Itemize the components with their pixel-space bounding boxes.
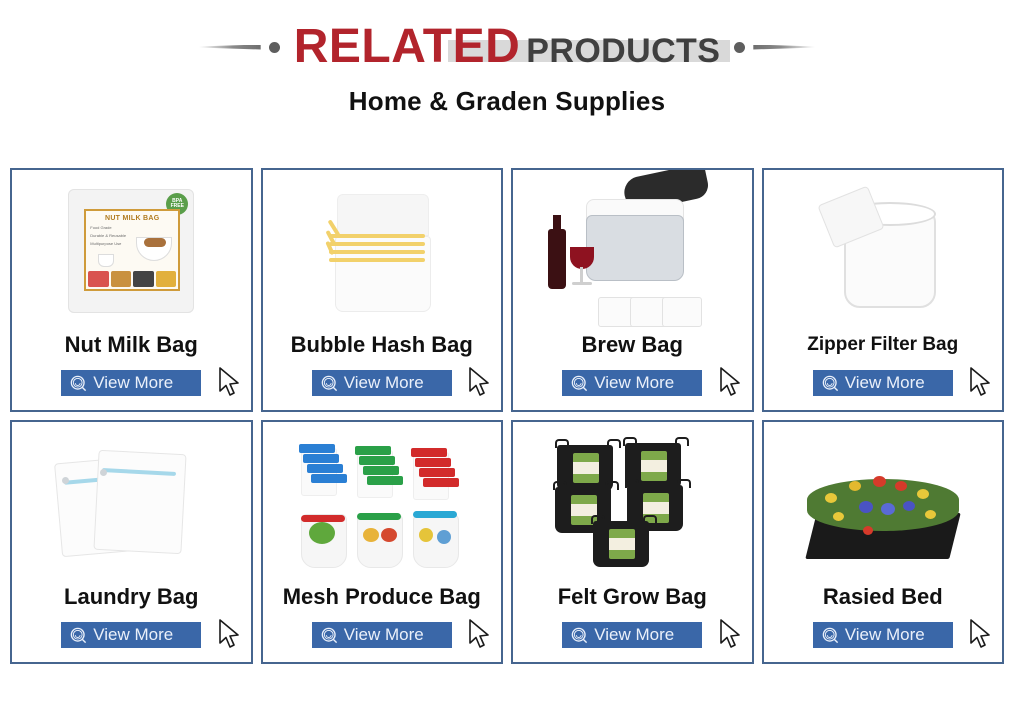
product-name: Zipper Filter Bag [764,332,1003,358]
zipper-filter-bag-image [764,170,1003,332]
left-decoration-line [199,45,261,50]
title-row: RELATED PRODUCTS [0,18,1014,76]
product-card-brew-bag[interactable]: Brew Bag View More [511,168,754,412]
nut-milk-bag-art-title: NUT MILK BAG [86,215,178,222]
page-subtitle: Home & Graden Supplies [0,86,1014,117]
view-more-icon [320,374,339,393]
right-decoration [734,42,815,53]
view-more-label: View More [845,370,925,396]
view-more-button[interactable]: View More [312,622,452,648]
view-more-icon [69,374,88,393]
view-more-label: View More [344,622,424,648]
view-more-button[interactable]: View More [813,370,953,396]
laundry-bag-image [12,422,251,584]
view-more-button[interactable]: View More [813,622,953,648]
product-card-zipper-filter-bag[interactable]: Zipper Filter Bag View More [762,168,1005,412]
product-card-rasied-bed[interactable]: Rasied Bed View More [762,420,1005,664]
view-more-icon [821,374,840,393]
right-decoration-line [753,45,815,50]
product-grid: BPA FREE NUT MILK BAG Food Grade Durable… [10,168,1004,664]
product-name: Felt Grow Bag [513,584,752,610]
bubble-hash-bag-image [263,170,502,332]
title-products: PRODUCTS [526,34,720,68]
view-more-button[interactable]: View More [312,370,452,396]
rasied-bed-image [764,422,1003,584]
view-more-label: View More [344,370,424,396]
view-more-label: View More [93,370,173,396]
product-card-felt-grow-bag[interactable]: Felt Grow Bag View More [511,420,754,664]
product-name: Nut Milk Bag [12,332,251,358]
product-name: Mesh Produce Bag [263,584,502,610]
view-more-icon [570,626,589,645]
view-more-button[interactable]: View More [562,622,702,648]
view-more-icon [821,626,840,645]
right-decoration-dot [734,42,745,53]
felt-grow-bag-image [513,422,752,584]
product-name: Brew Bag [513,332,752,358]
view-more-label: View More [845,622,925,648]
view-more-button[interactable]: View More [562,370,702,396]
left-decoration-dot [269,42,280,53]
product-name: Bubble Hash Bag [263,332,502,358]
page-header: RELATED PRODUCTS Home & Graden Supplies [0,0,1014,117]
product-card-mesh-produce-bag[interactable]: Mesh Produce Bag View More [261,420,504,664]
nut-milk-bag-art-line1: Food Grade [90,225,178,230]
left-decoration [199,42,280,53]
product-name: Laundry Bag [12,584,251,610]
view-more-label: View More [594,370,674,396]
nut-milk-bag-image: BPA FREE NUT MILK BAG Food Grade Durable… [12,170,251,332]
product-card-nut-milk-bag[interactable]: BPA FREE NUT MILK BAG Food Grade Durable… [10,168,253,412]
view-more-button[interactable]: View More [61,370,201,396]
product-card-bubble-hash-bag[interactable]: Bubble Hash Bag View More [261,168,504,412]
brew-bag-image [513,170,752,332]
mesh-produce-bag-image [263,422,502,584]
product-name: Rasied Bed [764,584,1003,610]
view-more-label: View More [93,622,173,648]
view-more-label: View More [594,622,674,648]
title-related: RELATED [294,23,521,71]
product-card-laundry-bag[interactable]: Laundry Bag View More [10,420,253,664]
view-more-icon [570,374,589,393]
page-title: RELATED PRODUCTS [280,23,735,71]
view-more-icon [320,626,339,645]
view-more-icon [69,626,88,645]
view-more-button[interactable]: View More [61,622,201,648]
